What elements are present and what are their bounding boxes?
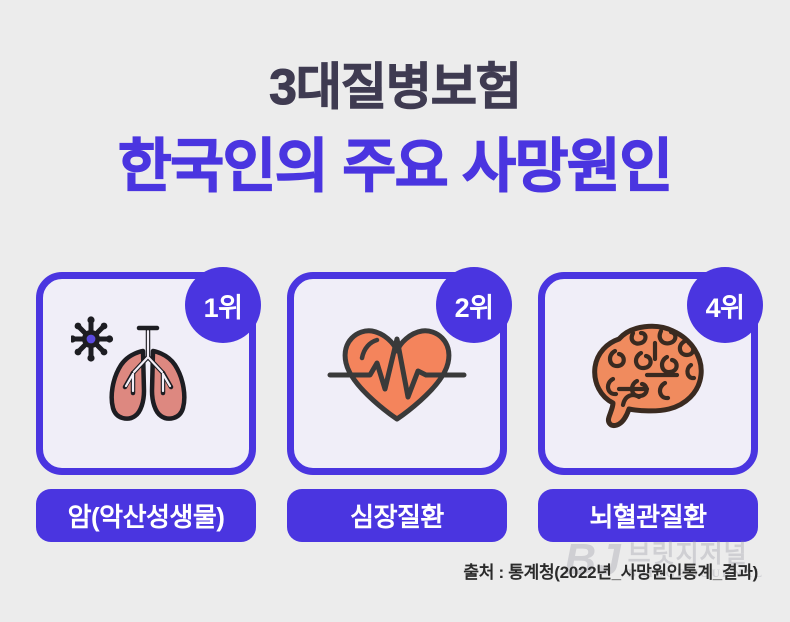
card-box: 1위 — [36, 272, 256, 475]
infographic-root: 3대질병보험 한국인의 주요 사망원인 — [0, 0, 790, 622]
rank-badge: 2위 — [436, 267, 512, 343]
rank-badge: 1위 — [185, 267, 261, 343]
page-subtitle: 한국인의 주요 사망원인 — [0, 138, 790, 196]
card-box: 2위 — [287, 272, 507, 475]
card-heart-disease[interactable]: 2위 심장질환 — [287, 272, 507, 542]
card-cancer[interactable]: 1위 암(악산성생물) — [36, 272, 256, 542]
cards-row: 1위 암(악산성생물) 2위 심장질환 — [36, 272, 758, 542]
source-note: 출처 : 통계청(2022년_사망원인통계_결과) — [463, 558, 758, 583]
card-label[interactable]: 뇌혈관질환 — [538, 489, 758, 542]
card-label[interactable]: 심장질환 — [287, 489, 507, 542]
card-label[interactable]: 암(악산성생물) — [36, 489, 256, 542]
card-box: 4위 — [538, 272, 758, 475]
card-cerebrovascular[interactable]: 4위 뇌혈관질환 — [538, 272, 758, 542]
page-title: 3대질병보험 — [0, 62, 790, 112]
virus-glyph — [71, 316, 113, 361]
rank-badge: 4위 — [687, 267, 763, 343]
